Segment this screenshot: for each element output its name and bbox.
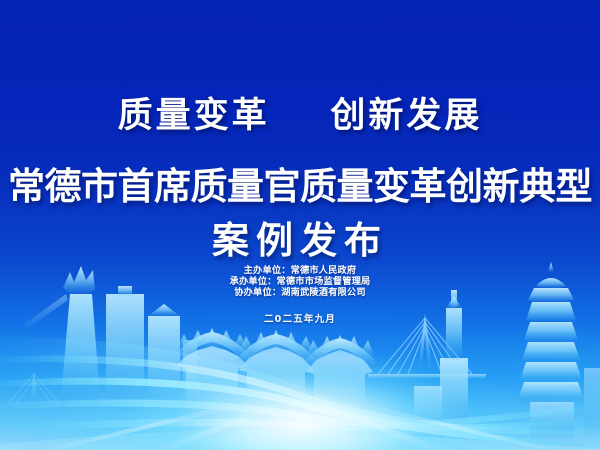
poster-title-line-1: 常德市首席质量官质量变革创新典型 [0,160,600,214]
credit-organizer: 承办单位：常德市市场监督管理局 [0,276,600,287]
credit-coorganizer: 协办单位：湖南武陵酒有限公司 [0,287,600,298]
poster-headline: 质量变革 创新发展 [0,99,600,134]
event-poster: 质量变革 创新发展 常德市首席质量官质量变革创新典型 案例发布 主办单位：常德市… [0,0,600,450]
poster-title: 常德市首席质量官质量变革创新典型 案例发布 [0,160,600,267]
organizer-credits: 主办单位：常德市人民政府 承办单位：常德市市场监督管理局 协办单位：湖南武陵酒有… [0,265,600,298]
credit-host: 主办单位：常德市人民政府 [0,265,600,276]
poster-date: 二0二五年九月 [0,311,600,325]
poster-title-line-2: 案例发布 [0,214,600,268]
